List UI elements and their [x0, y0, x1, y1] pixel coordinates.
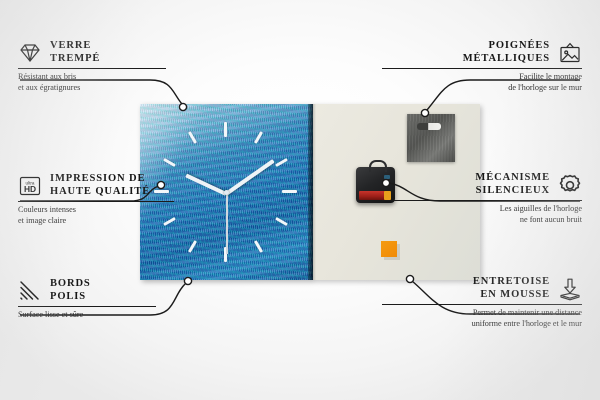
- clock-tick-5: [254, 240, 263, 253]
- infographic-canvas: VERRE TREMPÉ Résistant aux bris et aux é…: [0, 0, 600, 400]
- callout-rule: [382, 68, 582, 69]
- clock-tick-11: [188, 131, 197, 144]
- callout-header: POIGNÉES MÉTALLIQUES: [382, 40, 582, 65]
- callout-rule: [382, 200, 582, 201]
- clock-tick-10: [163, 158, 176, 167]
- callout-impression-haute-qualite[interactable]: ultra HD IMPRESSION DE HAUTE QUALITÉ Cou…: [18, 173, 218, 226]
- callout-title: MÉCANISME SILENCIEUX: [475, 172, 550, 197]
- callout-rule: [18, 201, 174, 202]
- callout-header: VERRE TREMPÉ: [18, 40, 218, 65]
- callout-description: Facilite le montage de l'horloge sur le …: [382, 72, 582, 93]
- gear-icon: [558, 173, 582, 197]
- callout-description: Résistant aux bris et aux égratignures: [18, 72, 218, 93]
- callout-header: ENTRETOISE EN MOUSSE: [382, 276, 582, 301]
- svg-text:HD: HD: [24, 184, 36, 194]
- diamond-icon: [18, 41, 42, 65]
- clock-tick-1: [254, 131, 263, 144]
- clock-tick-12: [224, 122, 227, 137]
- foam-spacer-arrow-icon: [558, 277, 582, 301]
- callout-verre-trempe[interactable]: VERRE TREMPÉ Résistant aux bris et aux é…: [18, 40, 218, 93]
- callout-description: Permet de maintenir une distance uniform…: [382, 308, 582, 329]
- callout-title: VERRE TREMPÉ: [50, 40, 100, 65]
- ultra-hd-icon: ultra HD: [18, 174, 42, 198]
- clock-minute-hand: [225, 159, 275, 196]
- hanger-slot: [417, 123, 441, 130]
- callout-header: ultra HD IMPRESSION DE HAUTE QUALITÉ: [18, 173, 218, 198]
- polished-edge-hatch-icon: [18, 279, 42, 303]
- callout-rule: [382, 304, 582, 305]
- clock-center-hub: [224, 190, 229, 195]
- clock-tick-2: [275, 158, 288, 167]
- callout-description: Surface lisse et sûre: [18, 310, 218, 321]
- foam-spacer-pad: [381, 241, 397, 257]
- callout-mecanisme-silencieux[interactable]: MÉCANISME SILENCIEUX Les aiguilles de l'…: [382, 172, 582, 225]
- callout-title: BORDS POLIS: [50, 278, 91, 303]
- callout-description: Couleurs intenses et image claire: [18, 205, 218, 226]
- clock-tick-4: [275, 217, 288, 226]
- callout-entretoise-en-mousse[interactable]: ENTRETOISE EN MOUSSE Permet de maintenir…: [382, 276, 582, 329]
- callout-poignees-metalliques[interactable]: POIGNÉES MÉTALLIQUES Facilite le montage…: [382, 40, 582, 93]
- callout-title: IMPRESSION DE HAUTE QUALITÉ: [50, 173, 150, 198]
- metal-hanger-plate: [407, 114, 455, 162]
- callout-bords-polis[interactable]: BORDS POLIS Surface lisse et sûre: [18, 278, 218, 321]
- mechanism-hanging-loop: [369, 160, 387, 172]
- callout-header: MÉCANISME SILENCIEUX: [382, 172, 582, 197]
- wall-mount-frame-icon: [558, 41, 582, 65]
- callout-title: ENTRETOISE EN MOUSSE: [473, 276, 550, 301]
- callout-rule: [18, 68, 166, 69]
- clock-tick-3: [282, 190, 297, 193]
- clock-second-hand: [226, 192, 228, 254]
- clock-tick-7: [188, 240, 197, 253]
- callout-title: POIGNÉES MÉTALLIQUES: [463, 40, 550, 65]
- callout-header: BORDS POLIS: [18, 278, 218, 303]
- callout-rule: [18, 306, 156, 307]
- callout-description: Les aiguilles de l'horloge ne font aucun…: [382, 204, 582, 225]
